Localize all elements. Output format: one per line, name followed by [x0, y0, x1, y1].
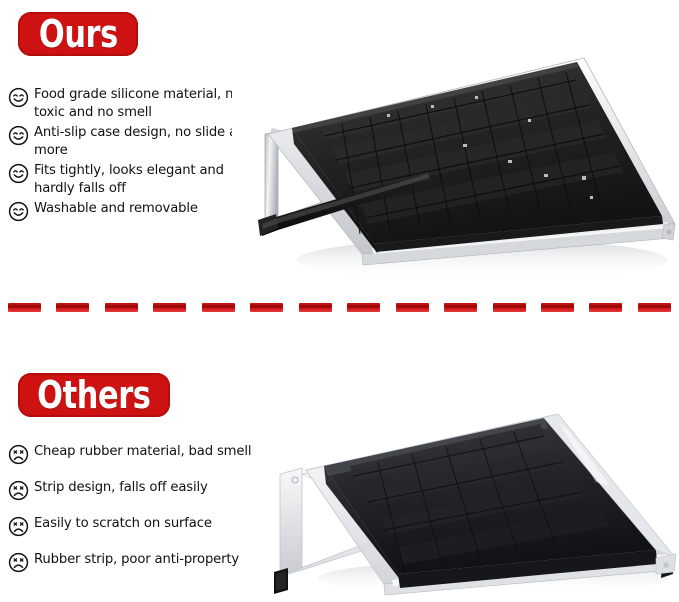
divider-dash [56, 303, 89, 312]
list-item: Washable and removable [8, 200, 260, 222]
red-dashed-divider [8, 303, 671, 312]
happy-face-icon [8, 163, 29, 184]
list-item-label: Strip design, falls off easily [34, 479, 208, 497]
keyboard-on-silver-stand-photo [232, 48, 679, 293]
divider-dash [202, 303, 235, 312]
infographic-page: Ours Food grade silicone material, non-t… [0, 0, 679, 602]
list-item: Cheap rubber material, bad smell [8, 443, 284, 465]
list-item-label: Anti-slip case design, no slide any more [34, 124, 260, 159]
sad-face-icon [8, 516, 29, 537]
list-item: Food grade silicone material, non-toxic … [8, 86, 260, 121]
divider-dash [105, 303, 138, 312]
sad-face-icon [8, 480, 29, 501]
divider-dash [396, 303, 429, 312]
divider-dash [493, 303, 526, 312]
divider-dash [541, 303, 574, 312]
list-item-label: Easily to scratch on surface [34, 515, 212, 533]
badge-ours: Ours [18, 12, 138, 56]
ours-feature-list: Food grade silicone material, non-toxic … [8, 86, 260, 225]
list-item-label: Cheap rubber material, bad smell [34, 443, 251, 461]
list-item-label: Food grade silicone material, non-toxic … [34, 86, 260, 121]
keyboard-on-clear-acrylic-stand-photo [258, 392, 679, 602]
happy-face-icon [8, 125, 29, 146]
list-item: Rubber strip, poor anti-property [8, 551, 284, 573]
list-item: Anti-slip case design, no slide any more [8, 124, 260, 159]
list-item-label: Fits tightly, looks elegant and hardly f… [34, 162, 260, 197]
badge-others-label: Others [37, 373, 150, 417]
sad-face-icon [8, 444, 29, 465]
divider-dash [444, 303, 477, 312]
divider-dash [8, 303, 41, 312]
divider-dash [589, 303, 622, 312]
divider-dash [250, 303, 283, 312]
list-item-label: Washable and removable [34, 200, 198, 218]
list-item: Easily to scratch on surface [8, 515, 284, 537]
divider-dash [638, 303, 671, 312]
list-item: Fits tightly, looks elegant and hardly f… [8, 162, 260, 197]
divider-dash [153, 303, 186, 312]
others-feature-list: Cheap rubber material, bad smell Strip d… [8, 443, 284, 587]
list-item-label: Rubber strip, poor anti-property [34, 551, 239, 569]
badge-others: Others [18, 373, 170, 417]
happy-face-icon [8, 87, 29, 108]
list-item: Strip design, falls off easily [8, 479, 284, 501]
sad-face-icon [8, 552, 29, 573]
divider-dash [347, 303, 380, 312]
badge-ours-label: Ours [39, 12, 118, 56]
happy-face-icon [8, 201, 29, 222]
divider-dash [299, 303, 332, 312]
